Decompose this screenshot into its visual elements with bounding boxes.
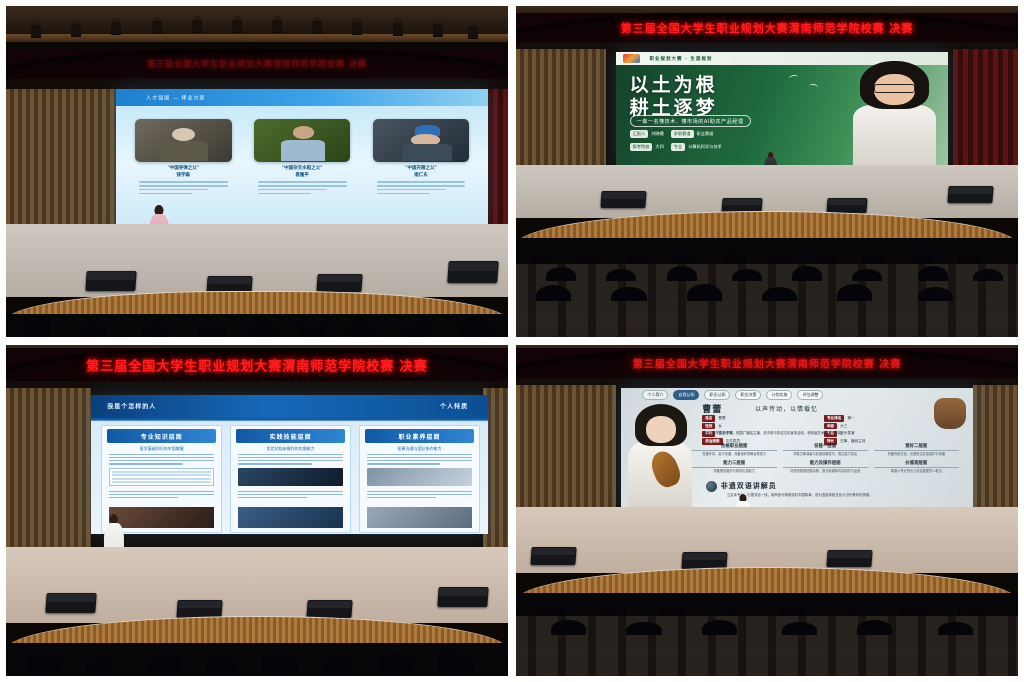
column-text	[238, 454, 343, 467]
block-text: 热爱传统文化，长期关注非遗保护与传播	[874, 452, 959, 457]
role-model-card: "中国杂交水稻之父" 袁隆平	[254, 119, 351, 214]
chip-key: 汇报人	[630, 130, 649, 138]
audience-1	[6, 314, 508, 337]
column-text-2	[367, 491, 472, 501]
panel-3: 第三届全国大学生职业规划大赛渭南师范学院校赛 决赛 我是个怎样的人 个人特质 专…	[6, 345, 508, 676]
tab-item: 个人简介	[642, 390, 668, 400]
profile-block: 爱好二层面热爱传统文化，长期关注非遗保护与传播	[874, 443, 959, 457]
block-text: 性格外向、善于沟通，具备良好的舞台表现力	[692, 452, 777, 457]
meta-value: 女	[718, 424, 722, 429]
block-title: 价值观层面	[874, 460, 959, 468]
block-title: 能力三层面	[692, 460, 777, 468]
profile-meta-item: 性别女	[702, 423, 816, 429]
slide-career-title: 职业规划大赛 · 生涯规划 以土为根 耕土逐梦 一做一名懂技术、懂市场的AI助农…	[616, 52, 947, 165]
tab-item: 评估调整	[797, 390, 823, 400]
auditorium-interior-2: 第三届全国大学生职业规划大赛渭南师范学院校赛 决赛 职业规划大赛 · 生涯规划 …	[516, 6, 1018, 337]
auditorium-interior-4: 第三届全国大学生职业规划大赛渭南师范学院校赛 决赛 个人简介 自我认知 职业认知…	[516, 345, 1018, 676]
block-title: 技能一层面	[783, 443, 868, 451]
role-model-title: "中国天眼之父"	[373, 166, 470, 173]
role-model-caption: "中国杂交水稻之父" 袁隆平	[254, 166, 351, 180]
slide-tabs-4: 个人简介 自我认知 职业认知 职业决策 计划实施 评估调整	[642, 390, 958, 400]
role-model-title: "中国杂交水稻之父"	[254, 166, 351, 173]
portrait-glasses-icon	[874, 84, 915, 93]
column-subtitle: 实验及临床操作的实操能力	[238, 446, 343, 452]
tab-item: 职业认知	[704, 390, 730, 400]
role-model-body	[258, 181, 347, 196]
meta-key: 姓名	[702, 415, 715, 421]
slide-chip: 报考院校 大四	[630, 143, 664, 151]
audience-3	[6, 643, 508, 676]
banner-text: 第三届全国大学生职业规划大赛渭南师范学院校赛 决赛	[516, 20, 1018, 36]
stage-curtain-left-1	[6, 89, 126, 238]
slide-chip: 求职赛道 职业赛道	[671, 130, 714, 138]
slide-header-1: 人才强国 — 择业方案	[116, 89, 487, 107]
block-title: 能力及操作层面	[783, 460, 868, 468]
slide-chip: 专业 计算机科学与技术	[671, 143, 722, 151]
career-goal: 非遗双语讲解员	[706, 481, 777, 492]
column-text-2	[109, 491, 214, 501]
chip-value: 刘晓曦	[651, 131, 664, 137]
chip-value: 大四	[655, 144, 663, 150]
block-text: 具备策划组织与现场应变能力	[692, 469, 777, 474]
column-image	[367, 468, 472, 486]
column-subtitle: 医患沟通与团队协作能力	[367, 446, 472, 452]
role-model-name: 钱学森	[135, 173, 232, 180]
profile-block: 能力及操作层面熟悉短视频拍摄剪辑，擅长新媒体内容制作与运营	[783, 460, 868, 474]
column-title: 实践技能层面	[236, 429, 345, 443]
slide-subtitle-2: 一做一名懂技术、懂市场的AI助农产品经理	[630, 115, 751, 127]
slide-topbar-text-2: 职业规划大赛 · 生涯规划	[650, 56, 713, 62]
role-model-card: "中国导弹之父" 钱学森	[135, 119, 232, 214]
seal-icon	[706, 481, 717, 492]
banner-text: 第三届全国大学生职业规划大赛渭南师范学院校赛 决赛	[6, 355, 508, 374]
role-model-caption: "中国天眼之父" 南仁东	[373, 166, 470, 180]
profile-block: 性格职业层面性格外向、善于沟通，具备良好的舞台表现力	[692, 443, 777, 457]
meta-key: 性别	[702, 423, 715, 429]
profile-meta-item: 专业排名第一	[824, 415, 938, 421]
portrait-face	[646, 416, 676, 443]
audience-4	[516, 593, 1018, 676]
competition-logo-icon	[623, 54, 640, 63]
role-model-caption: "中国导弹之父" 钱学森	[135, 166, 232, 180]
column-image	[238, 507, 343, 528]
stage-floor-4	[516, 507, 1018, 573]
led-banner-4: 第三届全国大学生职业规划大赛渭南师范学院校赛 决赛	[516, 348, 1018, 378]
stage-floor-1	[6, 224, 508, 297]
auditorium-interior-3: 第三届全国大学生职业规划大赛渭南师范学院校赛 决赛 我是个怎样的人 个人特质 专…	[6, 345, 508, 676]
slide-header-text-1: 人才强国 — 择业方案	[146, 94, 205, 101]
profile-meta-item: 年级大三	[824, 423, 938, 429]
panel-4: 第三届全国大学生职业规划大赛渭南师范学院校赛 决赛 个人简介 自我认知 职业认知…	[516, 345, 1018, 676]
role-model-name: 袁隆平	[254, 173, 351, 180]
role-model-body	[139, 181, 228, 196]
block-title: 性格职业层面	[692, 443, 777, 451]
profile-motto: 以声传动，以情载忆	[755, 404, 818, 413]
led-screen-3: 我是个怎样的人 个人特质 专业知识层面 医学基础知识的牢固掌握 实践技能层面 实…	[91, 395, 488, 534]
block-text: 掌握古筝演奏与双语讲解技巧，表达能力突出	[783, 452, 868, 457]
profile-blocks: 性格职业层面性格外向、善于沟通，具备良好的舞台表现力 技能一层面掌握古筝演奏与双…	[692, 443, 959, 474]
chip-value: 计算机科学与技术	[688, 144, 722, 150]
slide-chip-row-2: 报考院校 大四 专业 计算机科学与技术	[630, 143, 722, 151]
meta-value: 大三	[840, 424, 847, 429]
chip-key: 求职赛道	[671, 130, 694, 138]
role-model-body	[377, 181, 466, 196]
block-text: 熟悉短视频拍摄剪辑，擅长新媒体内容制作与运营	[783, 469, 868, 474]
career-goal-title: 非遗双语讲解员	[721, 481, 777, 491]
column-text	[367, 454, 472, 467]
chip-key: 专业	[671, 143, 685, 151]
stage-curtain-left-3	[6, 388, 91, 570]
led-banner-1: 第三届全国大学生职业规划大赛渭南师范学院校赛 决赛	[6, 49, 508, 79]
slide-portrait-2	[852, 61, 938, 165]
led-banner-2: 第三届全国大学生职业规划大赛渭南师范学院校赛 决赛	[516, 13, 1018, 43]
competency-column: 职业素养层面 医患沟通与团队协作能力	[359, 425, 480, 533]
chip-key: 报考院校	[630, 143, 653, 151]
slide-portrait-4	[625, 402, 695, 507]
led-screen-2: 职业规划大赛 · 生涯规划 以土为根 耕土逐梦 一做一名懂技术、懂市场的AI助农…	[616, 52, 947, 165]
career-goal-text: 立足本专业，扎根非遗一线，用声音与情感讲好中国故事，成为连接传统文化与当代青年的…	[727, 493, 931, 498]
tab-item: 职业决策	[735, 390, 761, 400]
block-text: 希望以专业所长让非遗被更多人看见	[874, 469, 959, 474]
led-screen-1: 人才强国 — 择业方案 "中国导弹之父" 钱学森	[116, 89, 487, 225]
column-title: 职业素养层面	[365, 429, 474, 443]
competency-column: 实践技能层面 实验及临床操作的实操能力	[230, 425, 351, 533]
slide-header-right: 个人特质	[440, 402, 468, 411]
led-banner-3: 第三届全国大学生职业规划大赛渭南师范学院校赛 决赛	[6, 348, 508, 381]
slide-role-models: 人才强国 — 择业方案 "中国导弹之父" 钱学森	[116, 89, 487, 225]
column-title: 专业知识层面	[107, 429, 216, 443]
banner-text: 第三届全国大学生职业规划大赛渭南师范学院校赛 决赛	[6, 58, 508, 69]
panel-2: 第三届全国大学生职业规划大赛渭南师范学院校赛 决赛 职业规划大赛 · 生涯规划 …	[516, 6, 1018, 337]
banner-text: 第三届全国大学生职业规划大赛渭南师范学院校赛 决赛	[516, 356, 1018, 371]
profile-block: 技能一层面掌握古筝演奏与双语讲解技巧，表达能力突出	[783, 443, 868, 457]
role-model-name: 南仁东	[373, 173, 470, 180]
tab-item: 计划实施	[766, 390, 792, 400]
decor-vase-icon	[934, 398, 966, 429]
slide-header-3: 我是个怎样的人 个人特质	[91, 395, 488, 419]
block-title: 爱好二层面	[874, 443, 959, 451]
column-text	[109, 454, 214, 467]
column-image	[367, 507, 472, 528]
meta-key: 专业排名	[824, 415, 844, 421]
column-image	[238, 468, 343, 486]
column-table	[109, 468, 214, 486]
led-screen-4: 个人简介 自我认知 职业认知 职业决策 计划实施 评估调整 曹蕾 以声传动，以情…	[621, 388, 972, 507]
role-model-photo	[373, 119, 470, 163]
role-model-photo	[254, 119, 351, 163]
tab-item-active: 自我认知	[673, 390, 699, 400]
slide-competency: 我是个怎样的人 个人特质 专业知识层面 医学基础知识的牢固掌握 实践技能层面 实…	[91, 395, 488, 534]
meta-value: 曹蕾	[718, 416, 725, 421]
panel-1: 第三届全国大学生职业规划大赛渭南师范学院校赛 决赛 人才强国 — 择业方案	[6, 6, 508, 337]
chip-value: 职业赛道	[697, 131, 714, 137]
profile-block: 价值观层面希望以专业所长让非遗被更多人看见	[874, 460, 959, 474]
role-model-card: "中国天眼之父" 南仁东	[373, 119, 470, 214]
profile-summary: 音乐学院学生会干事、校园广播站主播，多次参与非遗文化宣传活动，获校级艺术展演一等…	[702, 431, 952, 436]
slide-profile: 个人简介 自我认知 职业认知 职业决策 计划实施 评估调整 曹蕾 以声传动，以情…	[621, 388, 972, 507]
profile-meta-item: 姓名曹蕾	[702, 415, 816, 421]
photo-collage: 第三届全国大学生职业规划大赛渭南师范学院校赛 决赛 人才强国 — 择业方案	[0, 0, 1024, 682]
profile-block: 能力三层面具备策划组织与现场应变能力	[692, 460, 777, 474]
profile-name: 曹蕾	[702, 402, 722, 415]
slide-header-left: 我是个怎样的人	[107, 402, 156, 411]
audience-2	[516, 238, 1018, 337]
role-model-title: "中国导弹之父"	[135, 166, 232, 173]
meta-value: 第一	[847, 416, 854, 421]
auditorium-interior-1: 第三届全国大学生职业规划大赛渭南师范学院校赛 决赛 人才强国 — 择业方案	[6, 6, 508, 337]
slide-chip: 汇报人 刘晓曦	[630, 130, 664, 138]
stage-floor-2	[516, 165, 1018, 218]
slide-chip-row-1: 汇报人 刘晓曦 求职赛道 职业赛道	[630, 130, 714, 138]
role-model-photo	[135, 119, 232, 163]
column-text-2	[238, 491, 343, 501]
column-subtitle: 医学基础知识的牢固掌握	[109, 446, 214, 452]
portrait-coat	[853, 105, 936, 165]
meta-key: 年级	[824, 423, 837, 429]
